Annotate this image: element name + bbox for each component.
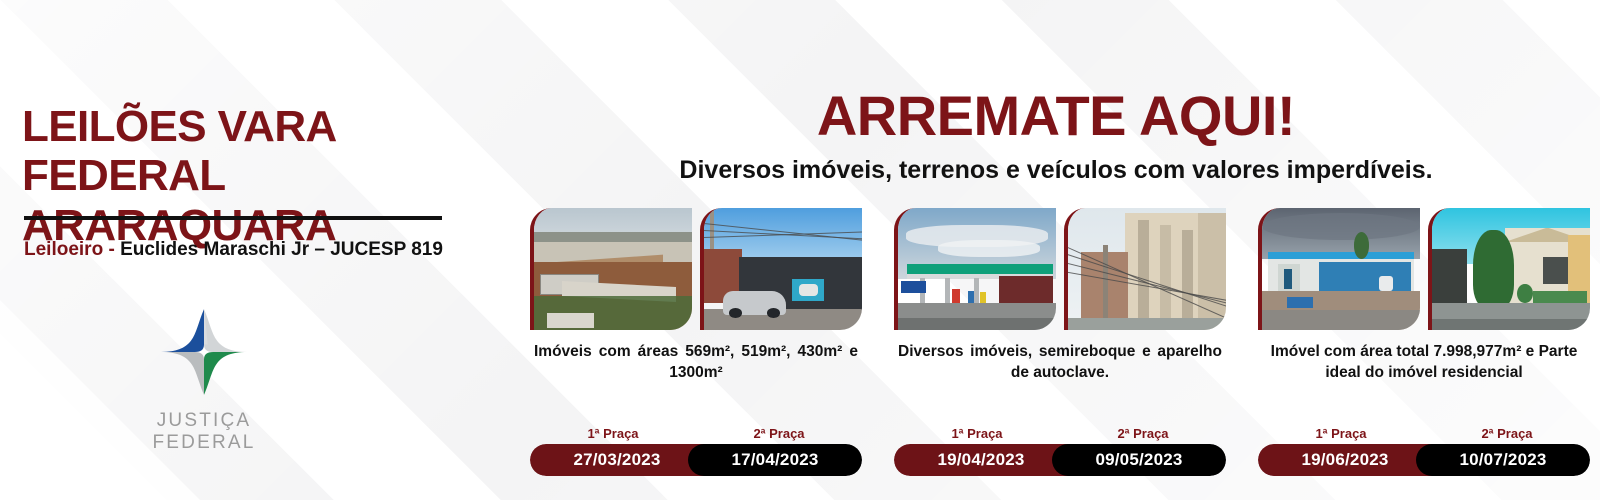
subheadline: Diversos imóveis, terrenos e veículos co… (512, 158, 1600, 183)
auctioneer-line: Leiloeiro - Euclides Maraschi Jr – JUCES… (24, 239, 443, 261)
second-praca-date[interactable]: 17/04/2023 (688, 444, 862, 476)
second-praca-label: 2ª Praça (1060, 426, 1226, 441)
page-title: LEILÕES VARA FEDERAL ARARAQUARA (22, 102, 502, 250)
second-praca-label: 2ª Praça (1424, 426, 1590, 441)
lot-caption: Diversos imóveis, semireboque e aparelho… (894, 342, 1226, 384)
lot-photo-pair (1258, 208, 1590, 330)
praca-date-pill[interactable]: 19/06/2023 10/07/2023 (1258, 444, 1590, 476)
banner-content: LEILÕES VARA FEDERAL ARARAQUARA Leiloeir… (0, 0, 1600, 500)
lot-photo-pair (530, 208, 862, 330)
lot-caption: Imóvel com área total 7.998,977m² e Part… (1258, 342, 1590, 384)
photo-warehouse-aerial (530, 208, 692, 330)
second-praca-label: 2ª Praça (696, 426, 862, 441)
praca-date-pill[interactable]: 19/04/2023 09/05/2023 (894, 444, 1226, 476)
first-praca-date[interactable]: 19/04/2023 (894, 444, 1068, 476)
lot-item[interactable]: Imóveis com áreas 569m², 519m², 430m² e … (530, 208, 862, 488)
photo-gas-station (894, 208, 1056, 330)
second-praca-date[interactable]: 09/05/2023 (1052, 444, 1226, 476)
praca-date-pill[interactable]: 27/03/2023 17/04/2023 (530, 444, 862, 476)
photo-blue-roof-building (1258, 208, 1420, 330)
praca-block: 1ª Praça 2ª Praça 19/04/2023 09/05/2023 (894, 426, 1226, 476)
first-praca-label: 1ª Praça (1258, 426, 1424, 441)
second-praca-date[interactable]: 10/07/2023 (1416, 444, 1590, 476)
praca-labels: 1ª Praça 2ª Praça (530, 426, 862, 441)
auctioneer-name: Euclides Maraschi Jr – JUCESP 819 (120, 239, 443, 260)
justica-federal-logo-text: JUSTIÇA FEDERAL (104, 410, 304, 454)
praca-labels: 1ª Praça 2ª Praça (1258, 426, 1590, 441)
left-panel: LEILÕES VARA FEDERAL ARARAQUARA Leiloeir… (0, 0, 512, 500)
first-praca-label: 1ª Praça (530, 426, 696, 441)
lot-photo-pair (894, 208, 1226, 330)
first-praca-date[interactable]: 19/06/2023 (1258, 444, 1432, 476)
photo-apartment-tower (1064, 208, 1226, 330)
photo-residential-house (1428, 208, 1590, 330)
right-panel: ARREMATE AQUI! Diversos imóveis, terreno… (512, 0, 1600, 500)
headline: ARREMATE AQUI! (512, 88, 1600, 144)
lot-caption: Imóveis com áreas 569m², 519m², 430m² e … (530, 342, 862, 384)
title-block: LEILÕES VARA FEDERAL ARARAQUARA (22, 102, 502, 250)
praca-block: 1ª Praça 2ª Praça 27/03/2023 17/04/2023 (530, 426, 862, 476)
title-divider (24, 216, 442, 220)
justica-federal-cross-icon (148, 296, 260, 408)
photo-dark-facade-car (700, 208, 862, 330)
lot-item[interactable]: Imóvel com área total 7.998,977m² e Part… (1258, 208, 1590, 488)
praca-labels: 1ª Praça 2ª Praça (894, 426, 1226, 441)
praca-block: 1ª Praça 2ª Praça 19/06/2023 10/07/2023 (1258, 426, 1590, 476)
justica-federal-logo: JUSTIÇA FEDERAL (104, 296, 304, 456)
first-praca-date[interactable]: 27/03/2023 (530, 444, 704, 476)
first-praca-label: 1ª Praça (894, 426, 1060, 441)
lot-list: Imóveis com áreas 569m², 519m², 430m² e … (530, 208, 1590, 488)
auctioneer-label: Leiloeiro - (24, 239, 115, 260)
auction-banner: LEILÕES VARA FEDERAL ARARAQUARA Leiloeir… (0, 0, 1600, 500)
lot-item[interactable]: Diversos imóveis, semireboque e aparelho… (894, 208, 1226, 488)
